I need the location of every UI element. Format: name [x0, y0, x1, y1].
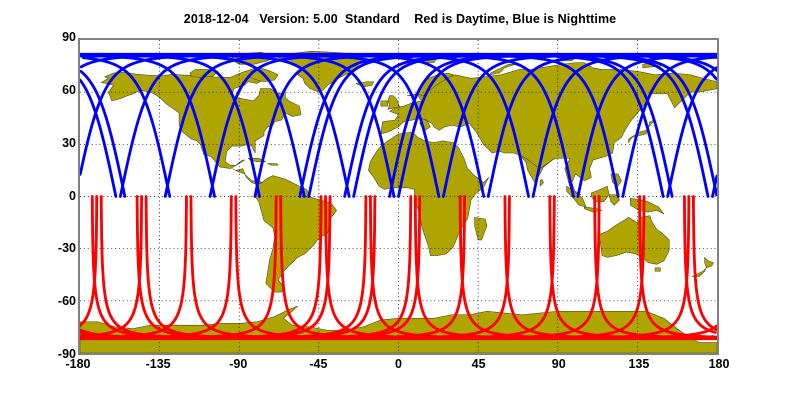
orbit-ground-track-map	[80, 40, 717, 353]
y-tick-label-30: 30	[36, 137, 76, 150]
y-tick-label-0: 0	[36, 190, 76, 203]
x-tick-label-neg90: -90	[198, 358, 278, 371]
x-tick-label-neg135: -135	[118, 358, 198, 371]
x-tick-label-180: 180	[679, 358, 759, 371]
x-tick-label-45: 45	[439, 358, 519, 371]
north-polar-convergence-band	[80, 53, 717, 58]
landmass-tasmania	[655, 268, 660, 271]
x-tick-label-neg45: -45	[278, 358, 358, 371]
y-tick-label-neg60: -60	[36, 295, 76, 308]
map-plot-area	[78, 38, 719, 355]
x-tick-label-0: 0	[359, 358, 439, 371]
x-tick-label-90: 90	[519, 358, 599, 371]
chart-title: 2018-12-04 Version: 5.00 Standard Red is…	[0, 12, 800, 26]
x-tick-label-135: 135	[599, 358, 679, 371]
y-tick-label-60: 60	[36, 84, 76, 97]
landmass-ireland	[381, 101, 388, 106]
swath-coverage-figure: 2018-12-04 Version: 5.00 Standard Red is…	[0, 0, 800, 400]
y-tick-label-neg30: -30	[36, 242, 76, 255]
y-tick-label-90: 90	[36, 31, 76, 44]
south-polar-convergence-band	[80, 336, 717, 341]
x-tick-label-neg180: -180	[38, 358, 118, 371]
